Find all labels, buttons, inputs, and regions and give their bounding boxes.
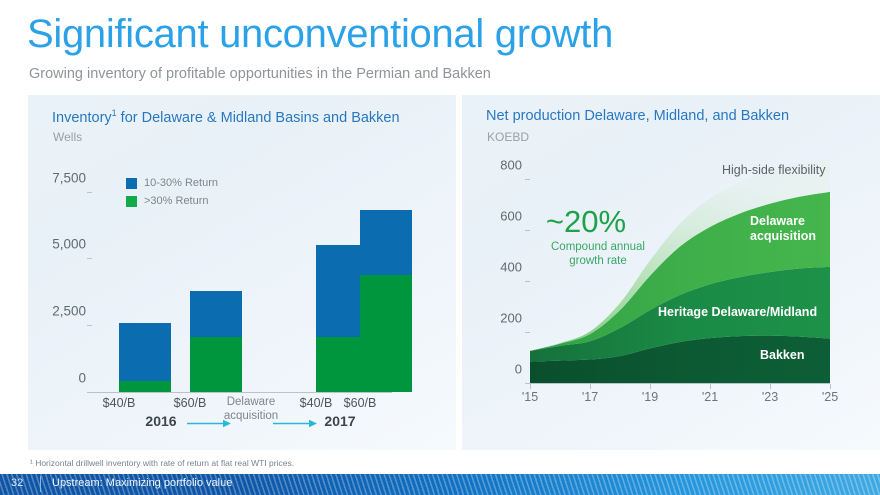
inventory-xtick-2016-60: $60/B [174, 396, 207, 410]
production-xtick-23: '23 [762, 390, 778, 404]
inventory-ytick-0: 0 [78, 371, 86, 386]
production-xtick-15: '15 [522, 390, 538, 404]
page-title: Significant unconventional growth [27, 12, 613, 57]
production-ytick-mark-800 [525, 179, 530, 180]
footnote: ¹ Horizontal drillwell inventory with ra… [30, 458, 294, 468]
production-x-axis [530, 383, 830, 384]
production-xtick-mark-17 [590, 384, 591, 389]
production-ytick-mark-400 [525, 281, 530, 282]
production-xtick-mark-21 [710, 384, 711, 389]
production-xtick-21: '21 [702, 390, 718, 404]
production-xtick-mark-15 [530, 384, 531, 389]
delaware-acquisition-line1: Delaware [224, 396, 278, 410]
inventory-x-axis [92, 392, 392, 393]
inventory-ytick-2500: 2,500 [52, 304, 86, 319]
arrow-right-icon-2017 [273, 419, 317, 428]
production-ytick-mark-200 [525, 332, 530, 333]
delaware-acquisition-line2: acquisition [224, 410, 278, 424]
inventory-group-label-2017: 2017 [324, 413, 355, 429]
cagr-value: ~20% [546, 204, 626, 240]
inventory-ytick-7500: 7,500 [52, 170, 86, 185]
production-ytick-200: 200 [500, 311, 522, 326]
production-ytick-mark-600 [525, 230, 530, 231]
inventory-xtick-2017-60: $60/B [344, 396, 377, 410]
inventory-group-label-2016: 2016 [145, 413, 176, 429]
production-chart-units: KOEBD [487, 130, 529, 144]
footer-bar: 32 Upstream: Maximizing portfolio value [0, 474, 880, 495]
inventory-ytick-mark-0 [87, 392, 92, 393]
production-xtick-17: '17 [582, 390, 598, 404]
footer-page-number: 32 [11, 477, 23, 489]
area-label-bakken: Bakken [760, 348, 804, 363]
inventory-ytick-mark-5000 [87, 258, 92, 259]
inventory-title-suffix: for Delaware & Midland Basins and Bakken [117, 110, 400, 126]
inventory-bar-3-segment-green [360, 275, 412, 393]
production-ytick-600: 600 [500, 209, 522, 224]
page-subtitle: Growing inventory of profitable opportun… [29, 66, 491, 82]
inventory-bar-0 [119, 323, 171, 392]
cagr-caption-line1: Compound annual [551, 240, 645, 254]
inventory-bar-0-segment-blue [119, 323, 171, 382]
inventory-chart-title: Inventory1 for Delaware & Midland Basins… [52, 108, 400, 126]
area-label-high-side-flexibility: High-side flexibility [722, 163, 826, 178]
arrow-right-icon-2016 [187, 419, 231, 428]
inventory-bar-1 [190, 291, 242, 392]
production-chart-title: Net production Delaware, Midland, and Ba… [486, 108, 789, 124]
inventory-bar-chart: 02,5005,0007,500 [92, 165, 392, 393]
production-ytick-400: 400 [500, 260, 522, 275]
production-ytick-800: 800 [500, 158, 522, 173]
inventory-title-prefix: Inventory [52, 110, 112, 126]
inventory-bar-1-segment-blue [190, 291, 242, 338]
inventory-ytick-5000: 5,000 [52, 237, 86, 252]
inventory-chart-units: Wells [53, 130, 82, 144]
area-label-delaware-line1: Delaware [750, 214, 816, 229]
footer-divider [40, 476, 41, 492]
production-xtick-mark-23 [770, 384, 771, 389]
inventory-xtick-2016-40: $40/B [103, 396, 136, 410]
production-xtick-mark-25 [830, 384, 831, 389]
inventory-bar-3-segment-blue [360, 210, 412, 274]
production-xtick-25: '25 [822, 390, 838, 404]
area-label-heritage-delaware-midland: Heritage Delaware/Midland [658, 305, 817, 320]
delaware-acquisition-annotation: Delaware acquisition [224, 396, 278, 423]
inventory-ytick-mark-7500 [87, 192, 92, 193]
area-label-delaware-acquisition: Delaware acquisition [750, 214, 816, 244]
production-ytick-0: 0 [515, 362, 522, 377]
production-xtick-mark-19 [650, 384, 651, 389]
area-label-delaware-line2: acquisition [750, 229, 816, 244]
cagr-caption-line2: growth rate [551, 254, 645, 268]
inventory-ytick-mark-2500 [87, 325, 92, 326]
inventory-bar-1-segment-green [190, 337, 242, 392]
production-xtick-19: '19 [642, 390, 658, 404]
inventory-xtick-2017-40: $40/B [300, 396, 333, 410]
footer-text: Upstream: Maximizing portfolio value [52, 477, 232, 489]
cagr-caption: Compound annual growth rate [551, 240, 645, 269]
inventory-bar-3 [360, 210, 412, 392]
inventory-bar-0-segment-green [119, 381, 171, 392]
